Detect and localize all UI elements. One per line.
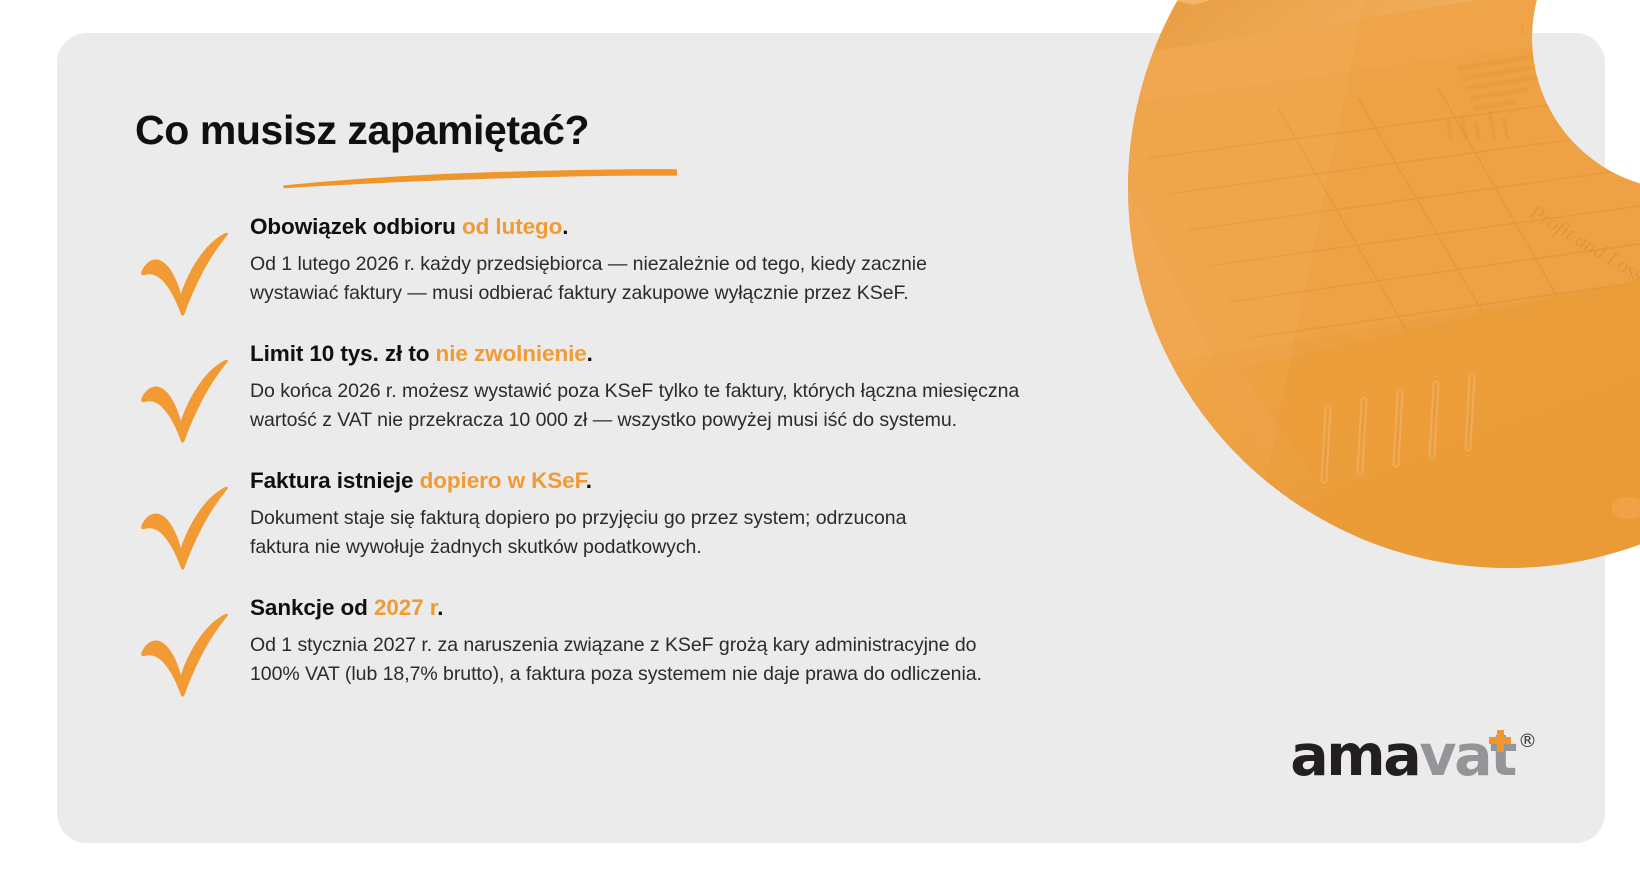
infographic-canvas: ANALYSIS REPORT 1 year — [0, 0, 1640, 880]
page-title: Co musisz zapamiętać? — [135, 108, 589, 154]
point-text: Limit 10 tys. zł to nie zwolnienie. Do k… — [250, 339, 1175, 435]
key-points-list: Obowiązek odbioru od lutego. Od 1 lutego… — [135, 212, 1175, 689]
check-icon — [135, 486, 233, 570]
point-title-suffix: . — [587, 341, 593, 366]
list-item: Sankcje od 2027 r. Od 1 stycznia 2027 r.… — [135, 593, 1175, 689]
point-title-highlight: 2027 r — [374, 595, 437, 620]
point-title: Faktura istnieje dopiero w KSeF. — [250, 466, 1175, 495]
logo-plus-vertical — [1497, 730, 1504, 752]
check-icon — [135, 232, 233, 316]
check-icon — [135, 359, 233, 443]
logo-text-ama: ama — [1290, 723, 1419, 789]
check-cell — [135, 593, 250, 594]
point-body-line: Od 1 stycznia 2027 r. za naruszenia zwią… — [250, 631, 1175, 660]
check-cell — [135, 212, 250, 213]
point-title-plain: Limit 10 tys. zł to — [250, 341, 436, 366]
point-title-plain: Sankcje od — [250, 595, 374, 620]
point-title-highlight: nie zwolnienie — [436, 341, 587, 366]
point-text: Faktura istnieje dopiero w KSeF. Dokumen… — [250, 466, 1175, 562]
point-body-line: faktura nie wywołuje żadnych skutków pod… — [250, 533, 1175, 562]
point-title-suffix: . — [562, 214, 568, 239]
heading-block: Co musisz zapamiętać? — [135, 108, 589, 154]
amavat-logo: amavat ® — [1290, 728, 1537, 785]
point-body: Od 1 lutego 2026 r. każdy przedsiębiorca… — [250, 250, 1175, 308]
list-item: Limit 10 tys. zł to nie zwolnienie. Do k… — [135, 339, 1175, 435]
point-title-highlight: od lutego — [462, 214, 562, 239]
point-title-highlight: dopiero w KSeF — [420, 468, 586, 493]
check-icon — [135, 613, 233, 697]
point-body-line: Od 1 lutego 2026 r. każdy przedsiębiorca… — [250, 250, 1175, 279]
point-text: Sankcje od 2027 r. Od 1 stycznia 2027 r.… — [250, 593, 1175, 689]
title-underline-swoosh — [281, 163, 681, 189]
point-body-line: wartość z VAT nie przekracza 10 000 zł —… — [250, 406, 1175, 435]
registered-trademark-mark: ® — [1518, 732, 1537, 751]
point-title: Obowiązek odbioru od lutego. — [250, 212, 1175, 241]
point-title: Sankcje od 2027 r. — [250, 593, 1175, 622]
point-title-suffix: . — [586, 468, 592, 493]
point-body: Do końca 2026 r. możesz wystawić poza KS… — [250, 377, 1175, 435]
check-cell — [135, 339, 250, 340]
point-title-plain: Faktura istnieje — [250, 468, 420, 493]
point-body-line: Dokument staje się fakturą dopiero po pr… — [250, 504, 1175, 533]
logo-wordmark: amavat — [1290, 728, 1515, 785]
list-item: Faktura istnieje dopiero w KSeF. Dokumen… — [135, 466, 1175, 562]
point-body: Od 1 stycznia 2027 r. za naruszenia zwią… — [250, 631, 1175, 689]
point-title-plain: Obowiązek odbioru — [250, 214, 462, 239]
logo-text-va: va — [1419, 723, 1490, 789]
check-cell — [135, 466, 250, 467]
point-body: Dokument staje się fakturą dopiero po pr… — [250, 504, 1175, 562]
point-title: Limit 10 tys. zł to nie zwolnienie. — [250, 339, 1175, 368]
list-item: Obowiązek odbioru od lutego. Od 1 lutego… — [135, 212, 1175, 308]
point-text: Obowiązek odbioru od lutego. Od 1 lutego… — [250, 212, 1175, 308]
point-body-line: 100% VAT (lub 18,7% brutto), a faktura p… — [250, 660, 1175, 689]
point-body-line: wystawiać faktury — musi odbierać faktur… — [250, 279, 1175, 308]
point-body-line: Do końca 2026 r. możesz wystawić poza KS… — [250, 377, 1175, 406]
logo-text-t: t — [1490, 723, 1515, 789]
point-title-suffix: . — [437, 595, 443, 620]
